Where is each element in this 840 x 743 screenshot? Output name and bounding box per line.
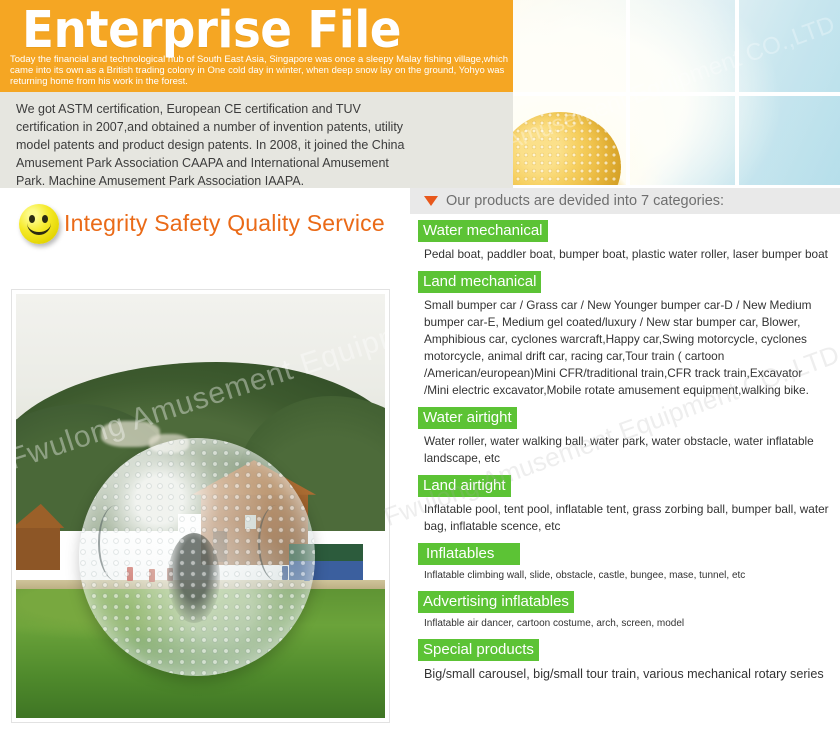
category-badge: Land mechanical	[418, 271, 541, 293]
slogan-text: Integrity Safety Quality Service	[64, 210, 385, 237]
category-badge: Advertising inflatables	[418, 591, 574, 613]
products-heading-text: Our products are devided into 7 categori…	[446, 193, 724, 209]
certification-text: We got ASTM certification, European CE c…	[16, 100, 416, 190]
category-water-mechanical: Water mechanical Pedal boat, paddler boa…	[410, 214, 840, 265]
category-badge: Water airtight	[418, 407, 517, 429]
zorb-ball-photo: Fwulong Amusement Equipment CO.,LTD	[12, 290, 389, 722]
category-badge: Special products	[418, 639, 539, 661]
category-items: Inflatable air dancer, cartoon costume, …	[418, 616, 834, 633]
category-items: Inflatable pool, tent pool, inflatable t…	[418, 500, 834, 537]
products-panel: Our products are devided into 7 categori…	[410, 188, 840, 743]
category-water-airtight: Water airtight Water roller, water walki…	[410, 401, 840, 469]
header-description: Today the financial and technological hu…	[10, 54, 510, 87]
smiley-face-icon	[19, 204, 59, 244]
products-heading-bar: Our products are devided into 7 categori…	[410, 188, 840, 214]
daisy-flower-photo: Fwulong Amusement Equipment CO.,LTD	[513, 0, 840, 188]
slogan-row: Integrity Safety Quality Service	[0, 190, 410, 260]
category-badge: Land airtight	[418, 475, 511, 497]
enterprise-header-panel: Enterprise File Today the financial and …	[0, 0, 513, 92]
category-items: Inflatable climbing wall, slide, obstacl…	[418, 568, 834, 585]
category-items: Pedal boat, paddler boat, bumper boat, p…	[418, 245, 834, 265]
page-root: Fwulong Amusement Equipment CO.,LTD Ente…	[0, 0, 840, 743]
page-title: Enterprise File	[22, 2, 401, 58]
category-items: Water roller, water walking ball, water …	[418, 432, 834, 469]
category-badge: Water mechanical	[418, 220, 548, 242]
caret-down-icon	[424, 196, 438, 206]
certification-panel: We got ASTM certification, European CE c…	[0, 92, 513, 188]
category-inflatables: Inflatables Inflatable climbing wall, sl…	[410, 537, 840, 585]
inflatable-zorb-ball	[79, 438, 315, 675]
category-land-airtight: Land airtight Inflatable pool, tent pool…	[410, 469, 840, 537]
photo-grid-overlay	[513, 0, 840, 188]
category-land-mechanical: Land mechanical Small bumper car / Grass…	[410, 265, 840, 401]
category-advertising-inflatables: Advertising inflatables Inflatable air d…	[410, 585, 840, 633]
category-items: Big/small carousel, big/small tour train…	[418, 664, 834, 686]
category-special-products: Special products Big/small carousel, big…	[410, 633, 840, 686]
category-items: Small bumper car / Grass car / New Young…	[418, 296, 834, 401]
category-badge: Inflatables	[418, 543, 520, 565]
